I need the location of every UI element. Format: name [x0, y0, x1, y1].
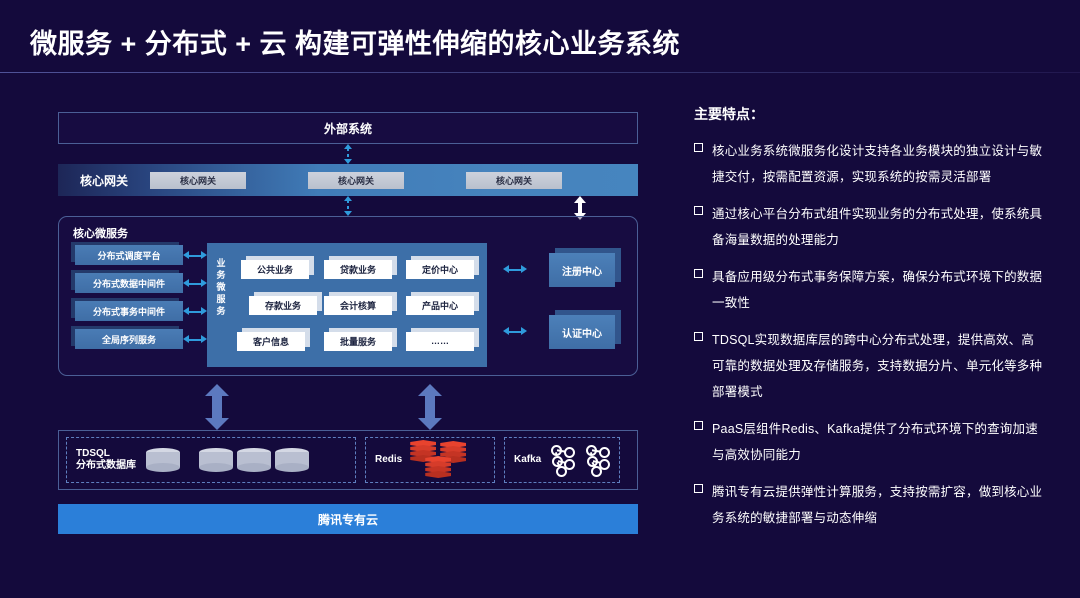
gateway-chip: 核心网关 [150, 172, 246, 189]
square-bullet-icon [694, 484, 703, 493]
connector-external-to-gateway [347, 148, 349, 160]
slide-root: 微服务 + 分布式 + 云 构建可弹性伸缩的核心业务系统 外部系统 核心网关 核… [0, 0, 1080, 598]
feature-text: 通过核心平台分布式组件实现业务的分布式处理，使系统具备海量数据的处理能力 [712, 201, 1046, 253]
kafka-label: Kafka [514, 454, 541, 466]
business-service-card[interactable]: 定价中心 [406, 260, 474, 279]
business-service-card[interactable]: 客户信息 [237, 332, 305, 351]
tdsql-label: TDSQL 分布式数据库 [76, 448, 136, 472]
business-service-label: 贷款业务 [324, 260, 392, 279]
gateway-chip: 核心网关 [308, 172, 404, 189]
business-service-label: …… [406, 332, 474, 351]
registry-center-card[interactable]: 注册中心 [549, 253, 615, 287]
feature-text: 核心业务系统微服务化设计支持各业务模块的独立设计与敏捷交付，按需配置资源，实现系… [712, 138, 1046, 190]
business-service-label: 存款业务 [249, 296, 317, 315]
external-system-label: 外部系统 [324, 120, 372, 137]
left-connector-arrow-icon [183, 307, 207, 316]
platform-component-card[interactable]: 分布式调度平台 [75, 245, 183, 265]
business-service-grid: 公共业务 贷款业务 定价中心 存款业务 会计核算 产品中心 客户信息 批量服务 … [233, 251, 481, 359]
tdsql-box: TDSQL 分布式数据库 [66, 437, 356, 483]
key-features-panel: 主要特点： 核心业务系统微服务化设计支持各业务模块的独立设计与敏捷交付，按需配置… [694, 104, 1046, 542]
core-to-data-arrow-icon [205, 384, 229, 430]
platform-component-label: 分布式调度平台 [75, 245, 183, 265]
external-system-box: 外部系统 [58, 112, 638, 144]
platform-component-label: 分布式数据中间件 [75, 273, 183, 293]
business-service-card[interactable]: 会计核算 [324, 296, 392, 315]
square-bullet-icon [694, 421, 703, 430]
platform-component-label: 全局序列服务 [75, 329, 183, 349]
feature-text: 具备应用级分布式事务保障方案，确保分布式环境下的数据一致性 [712, 264, 1046, 316]
business-service-label: 公共业务 [241, 260, 309, 279]
database-cylinder-icon [146, 448, 309, 472]
business-microservices-side-label: 业务微服务 [213, 257, 229, 317]
core-microservices-title: 核心微服务 [73, 225, 128, 241]
left-connector-arrow-icon [183, 251, 207, 260]
gateway-chip-group: 核心网关 核心网关 核心网关 [150, 172, 638, 189]
feature-item: 腾讯专有云提供弹性计算服务，支持按需扩容，做到核心业务系统的敏捷部署与动态伸缩 [694, 479, 1046, 531]
left-connector-arrow-icon [183, 335, 207, 344]
registry-auth-group: 注册中心 认证中心 [549, 253, 615, 349]
tencent-private-cloud-banner: 腾讯专有云 [58, 504, 638, 534]
right-connector-arrow-icon [503, 327, 527, 336]
business-service-card[interactable]: …… [406, 332, 474, 351]
feature-text: TDSQL实现数据库层的跨中心分布式处理，提供高效、高可靠的数据处理及存储服务，… [712, 327, 1046, 405]
business-service-label: 批量服务 [324, 332, 392, 351]
tencent-private-cloud-label: 腾讯专有云 [318, 511, 378, 528]
left-connector-arrow-icon [183, 279, 207, 288]
feature-item: PaaS层组件Redis、Kafka提供了分布式环境下的查询加速与高效协同能力 [694, 416, 1046, 468]
business-service-card[interactable]: 存款业务 [249, 296, 317, 315]
business-service-label: 产品中心 [406, 296, 474, 315]
business-service-card[interactable]: 公共业务 [241, 260, 309, 279]
core-to-data-arrow-icon [418, 384, 442, 430]
square-bullet-icon [694, 332, 703, 341]
architecture-diagram: 外部系统 核心网关 核心网关 核心网关 核心网关 核心微服务 分布式调度平台 [58, 112, 638, 532]
feature-item: 具备应用级分布式事务保障方案，确保分布式环境下的数据一致性 [694, 264, 1046, 316]
key-features-title: 主要特点： [694, 104, 1046, 124]
business-service-label: 客户信息 [237, 332, 305, 351]
redis-label: Redis [375, 454, 402, 466]
square-bullet-icon [694, 206, 703, 215]
square-bullet-icon [694, 269, 703, 278]
data-layer-panel: TDSQL 分布式数据库 Redis [58, 430, 638, 490]
auth-center-card[interactable]: 认证中心 [549, 315, 615, 349]
business-service-card[interactable]: 产品中心 [406, 296, 474, 315]
gateway-chip: 核心网关 [466, 172, 562, 189]
feature-item: 核心业务系统微服务化设计支持各业务模块的独立设计与敏捷交付，按需配置资源，实现系… [694, 138, 1046, 190]
business-microservices-box: 业务微服务 公共业务 贷款业务 定价中心 存款业务 会计核算 产品中心 客户信息… [207, 243, 487, 367]
connector-gateway-to-core [347, 200, 349, 212]
kafka-box: Kafka [504, 437, 620, 483]
registry-center-label: 注册中心 [549, 253, 615, 287]
core-gateway-bar: 核心网关 核心网关 核心网关 核心网关 [58, 164, 638, 196]
feature-text: PaaS层组件Redis、Kafka提供了分布式环境下的查询加速与高效协同能力 [712, 416, 1046, 468]
business-service-label: 会计核算 [324, 296, 392, 315]
feature-item: 通过核心平台分布式组件实现业务的分布式处理，使系统具备海量数据的处理能力 [694, 201, 1046, 253]
page-title: 微服务 + 分布式 + 云 构建可弹性伸缩的核心业务系统 [30, 22, 680, 61]
redis-box: Redis [365, 437, 495, 483]
feature-item: TDSQL实现数据库层的跨中心分布式处理，提供高效、高可靠的数据处理及存储服务，… [694, 327, 1046, 405]
business-service-card[interactable]: 贷款业务 [324, 260, 392, 279]
kafka-logo-icon [549, 445, 610, 475]
platform-component-card[interactable]: 分布式数据中间件 [75, 273, 183, 293]
square-bullet-icon [694, 143, 703, 152]
platform-component-list: 分布式调度平台 分布式数据中间件 分布式事务中间件 全局序列服务 [75, 245, 183, 349]
tdsql-label-line1: TDSQL [76, 448, 110, 459]
tdsql-label-line2: 分布式数据库 [76, 460, 136, 471]
platform-component-label: 分布式事务中间件 [75, 301, 183, 321]
core-microservices-panel: 核心微服务 分布式调度平台 分布式数据中间件 分布式事务中间件 全局序列服务 [58, 216, 638, 376]
core-gateway-label: 核心网关 [58, 172, 150, 189]
feature-text: 腾讯专有云提供弹性计算服务，支持按需扩容，做到核心业务系统的敏捷部署与动态伸缩 [712, 479, 1046, 531]
business-service-card[interactable]: 批量服务 [324, 332, 392, 351]
right-connector-arrow-icon [503, 265, 527, 274]
business-service-label: 定价中心 [406, 260, 474, 279]
title-divider [0, 72, 1080, 73]
platform-component-card[interactable]: 全局序列服务 [75, 329, 183, 349]
auth-center-label: 认证中心 [549, 315, 615, 349]
redis-logo-icon [410, 440, 482, 480]
platform-component-card[interactable]: 分布式事务中间件 [75, 301, 183, 321]
